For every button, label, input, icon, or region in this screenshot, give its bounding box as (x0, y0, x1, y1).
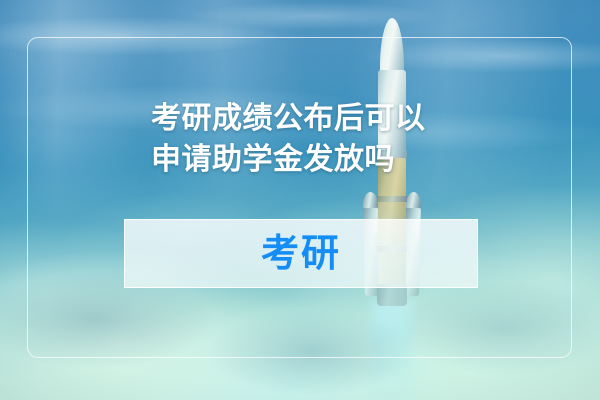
keyword-label: 考研 (261, 235, 341, 273)
keyword-bar: 考研 (124, 219, 478, 288)
banner-headline: 考研成绩公布后可以 申请助学金发放吗 (151, 98, 491, 180)
decorative-frame (27, 37, 572, 358)
promo-banner: 考研成绩公布后可以 申请助学金发放吗 考研 (0, 0, 600, 400)
